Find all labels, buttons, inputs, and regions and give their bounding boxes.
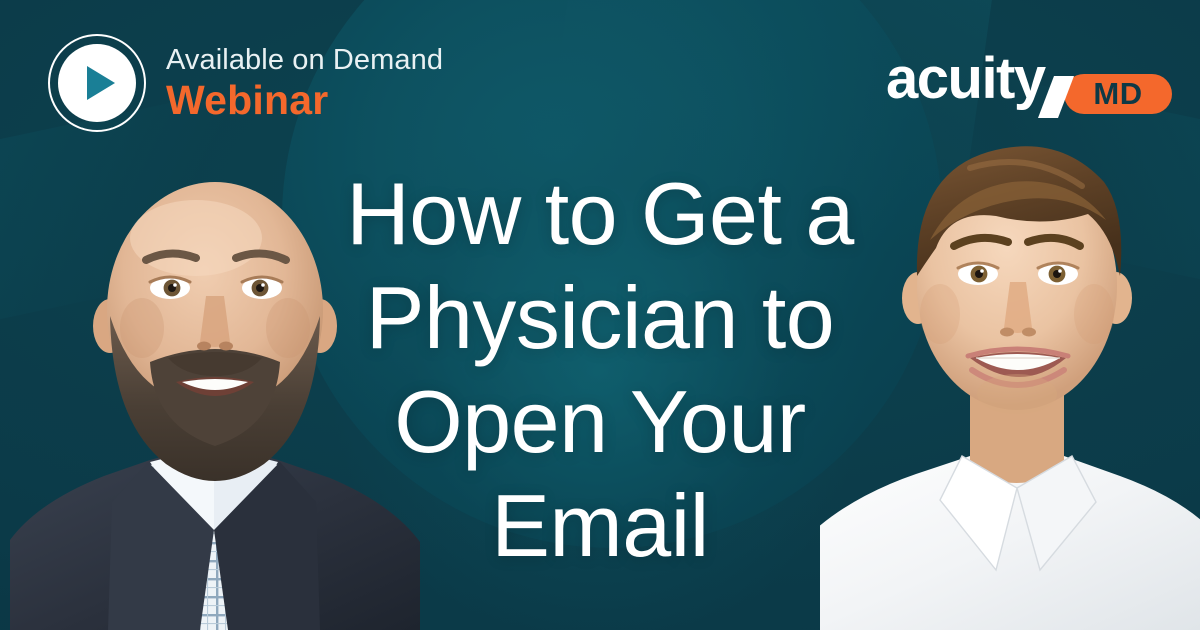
play-icon-disc [58,44,136,122]
svg-text:MD: MD [1093,76,1142,111]
play-triangle-icon [87,66,115,100]
badge-title: Webinar [166,80,443,121]
svg-text:acuity: acuity [886,46,1046,111]
title-line-1: How to Get a [300,162,900,266]
badge-text-group: Available on Demand Webinar [166,46,443,121]
title-line-3: Open Your [300,370,900,474]
webinar-badge: Available on Demand Webinar [48,34,443,132]
play-circle-icon[interactable] [48,34,146,132]
badge-eyebrow: Available on Demand [166,46,443,75]
acuitymd-logo[interactable]: MD acuity [886,40,1176,120]
title-line-2: Physician to [300,266,900,370]
webinar-promo-banner: Available on Demand Webinar MD acuity Ho… [0,0,1200,630]
acuitymd-logo-mark: MD acuity [886,40,1176,120]
title-line-4: Email [300,474,900,578]
page-title: How to Get a Physician to Open Your Emai… [300,162,900,578]
